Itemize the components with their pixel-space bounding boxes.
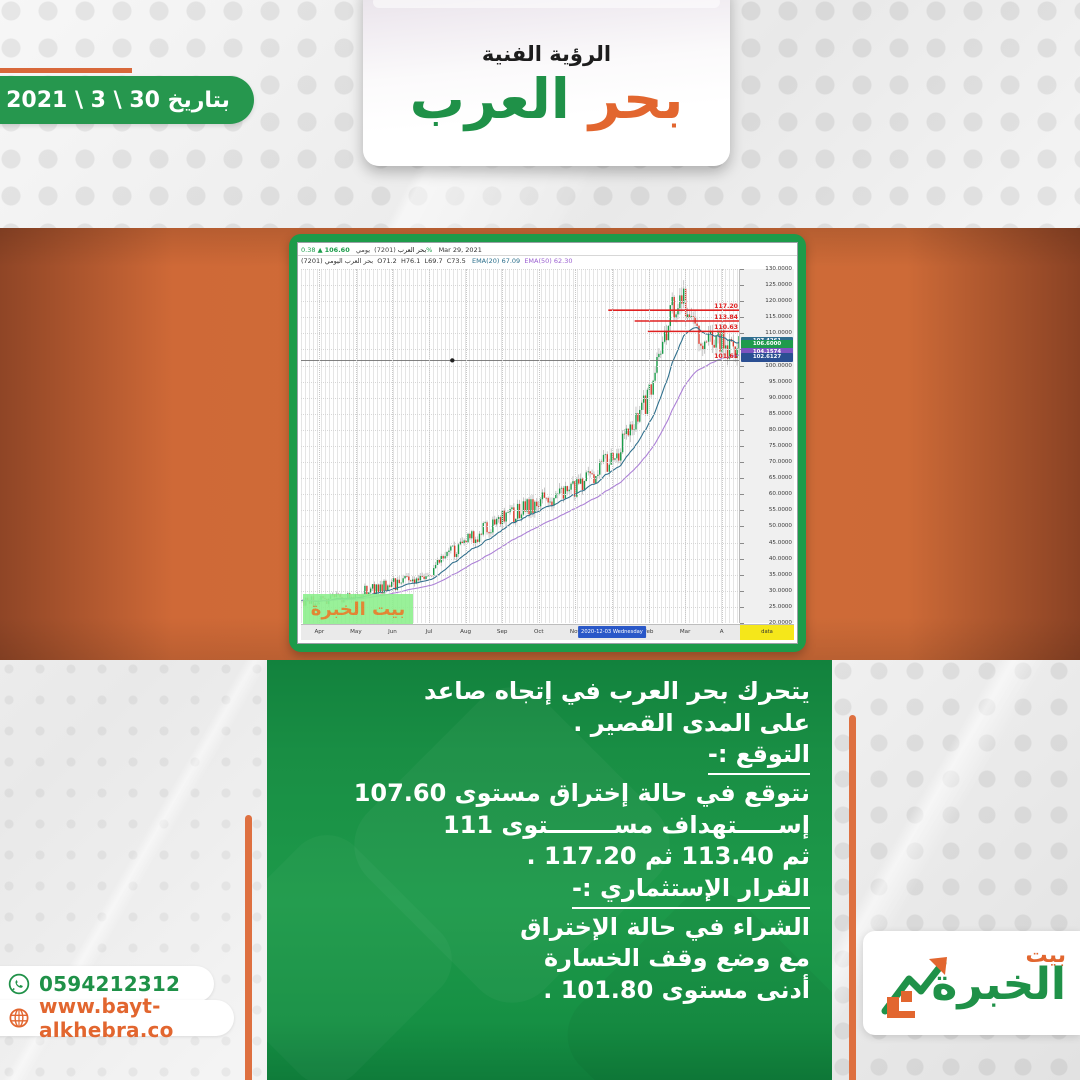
analysis-line-3: نتوقع في حالة إختراق مستوى 107.60 [267,778,810,810]
price-axis-tick: 55.0000 [769,507,792,513]
time-axis-tick: Aug [460,628,471,636]
chart-level-label: 117.20 [714,303,738,310]
contact-phone-number: 0594212312 [39,972,180,996]
price-axis-tick: 100.0000 [765,363,792,369]
chart-horizontal-gridline [301,510,740,511]
chart-ema-slow-value: 62.30 [554,257,573,265]
globe-icon [8,1007,30,1029]
chart-ohlc-symbol: (7201) [301,257,323,265]
price-axis-tick: 120.0000 [765,298,792,304]
chart-ohlc-line: بحر العرب اليومي (7201) O71.2 H76.1 L69.… [301,256,794,267]
page-subtitle: الرؤية الفنية [363,42,730,66]
price-axis-tick: 110.0000 [765,330,792,336]
price-axis-tick-mark [740,382,744,383]
chart-level-label: 101.61 [714,353,738,360]
time-axis-tick: Mar [680,628,691,636]
price-axis-tick: 115.0000 [765,314,792,320]
time-axis-tick: Apr [314,628,324,636]
price-axis-tick-mark [740,430,744,431]
price-axis-tick-mark [740,414,744,415]
chart-horizontal-gridline [301,575,740,576]
accent-rail-left [245,815,252,1080]
chart-horizontal-gridline [301,526,740,527]
chart-vertical-gridline [356,269,357,623]
price-axis-tick: 35.0000 [769,572,792,578]
price-axis-tick: 95.0000 [769,379,792,385]
date-badge: بتاريخ 30 \ 3 \ 2021 [0,76,254,124]
price-axis-tick-mark [740,559,744,560]
chart-horizontal-gridline [301,591,740,592]
title-card-gloss [373,0,720,8]
chart-vertical-gridline [319,269,320,623]
chart-horizontal-gridline [301,333,740,334]
price-axis-tick: 75.0000 [769,443,792,449]
date-accent-rule [0,68,132,73]
analysis-heading-forecast: التوقع :- [708,739,810,775]
price-axis-tick-mark [740,591,744,592]
chart-horizontal-gridline [301,398,740,399]
chart-ema-fast-label: EMA(20) [472,257,500,265]
price-axis-tick: 85.0000 [769,411,792,417]
title-card: الرؤية الفنية بحر العرب [363,0,730,166]
chart-time-axis[interactable]: AprMayJunJulAugSepOctNov2021JanFebMarA20… [301,624,740,640]
analysis-line-2: على المدى القصير . [267,708,810,740]
chart-vertical-gridline [575,269,576,623]
price-axis-tick-mark [740,398,744,399]
page-title-word-orange: بحر [589,67,684,131]
time-axis-tick: Sep [497,628,508,636]
price-axis-tick-mark [740,317,744,318]
price-axis-tick: 50.0000 [769,523,792,529]
price-axis-tick: 60.0000 [769,491,792,497]
chart-watermark: بيت الخبرة [303,594,413,624]
chart-horizontal-gridline [301,349,740,350]
chart-horizontal-gridline [301,269,740,270]
time-axis-tick: Jul [426,628,433,636]
price-axis-tick: 90.0000 [769,395,792,401]
chart-widget[interactable]: بحر العرب (7201) يومي 106.60 ▲ 0.38% Mar… [297,242,798,644]
price-axis-tick-mark [740,366,744,367]
chart-price-axis[interactable]: 130.0000125.0000120.0000115.0000110.0000… [739,269,794,623]
chart-horizontal-gridline [301,285,740,286]
price-axis-tick: 80.0000 [769,427,792,433]
chart-axis-corner-button[interactable]: data [740,624,794,640]
chart-open-value: 71.2 [382,257,396,265]
chart-vertical-gridline [429,269,430,623]
chart-horizontal-gridline [301,462,740,463]
analysis-text-block: يتحرك بحر العرب في إتجاه صاعد على المدى … [267,676,810,1007]
chart-frame: بحر العرب (7201) يومي 106.60 ▲ 0.38% Mar… [289,234,806,652]
chart-watermark-text: بيت الخبرة [311,599,406,620]
chart-horizontal-gridline [301,366,740,367]
analysis-line-4: إســـــتهداف مســــــــتوى 111 [267,810,810,842]
chart-vertical-gridline [466,269,467,623]
whatsapp-icon [8,973,30,995]
chart-ema-slow-label: EMA(50) [524,257,552,265]
chart-vertical-gridline [722,269,723,623]
brand-logo-main-word: الخبرة [931,963,1066,1007]
chart-timeframe: يومي [356,246,370,254]
chart-horizontal-gridline [301,543,740,544]
contact-website-pill[interactable]: www.bayt-alkhebra.co [0,1000,234,1036]
price-axis-tick-mark [740,478,744,479]
chart-level-label: 113.84 [714,314,738,321]
price-axis-tick-mark [740,543,744,544]
chart-horizontal-gridline [301,478,740,479]
analysis-line-1: يتحرك بحر العرب في إتجاه صاعد [267,676,810,708]
chart-low-value: 69.7 [428,257,442,265]
analysis-line-5: ثم 113.40 ثم 117.20 . [267,841,810,873]
price-axis-tick-mark [740,462,744,463]
chart-vertical-gridline [685,269,686,623]
infographic-canvas: بتاريخ 30 \ 3 \ 2021 الرؤية الفنية بحر ا… [0,0,1080,1080]
chart-last-price: 106.60 [325,246,350,254]
price-axis-tick-mark [740,494,744,495]
chart-horizontal-gridline [301,301,740,302]
chart-vertical-gridline [539,269,540,623]
price-axis-chip[interactable]: 102.6127 [741,353,793,362]
chart-plot-area[interactable]: 130.61117.20113.84110.63101.61 [301,269,740,623]
price-axis-tick-mark [740,526,744,527]
price-axis-tick: 30.0000 [769,588,792,594]
time-axis-tick: May [350,628,362,636]
chart-close-value: 73.5 [451,257,465,265]
price-axis-tick-mark [740,285,744,286]
chart-instrument-name: بحر العرب [398,246,426,254]
chart-horizontal-gridline [301,446,740,447]
contact-website-url: www.bayt-alkhebra.co [39,994,218,1042]
price-axis-tick: 70.0000 [769,459,792,465]
chart-vertical-gridline [612,269,613,623]
chart-level-label: 110.63 [714,324,738,331]
chart-vertical-gridline [649,269,650,623]
accent-rail-right [849,715,856,1080]
chart-vertical-gridline [392,269,393,623]
price-axis-tick: 45.0000 [769,540,792,546]
price-axis-tick-mark [740,301,744,302]
brand-logo-text: بيت الخبرة [931,945,1066,1007]
price-axis-tick: 65.0000 [769,475,792,481]
chart-horizontal-gridline [301,382,740,383]
analysis-heading-decision: القرار الإستثماري :- [572,873,810,909]
chart-symbol: (7201) [374,246,396,254]
price-axis-tick: 40.0000 [769,556,792,562]
chart-horizontal-gridline [301,430,740,431]
price-axis-tick: 25.0000 [769,604,792,610]
price-axis-tick-mark [740,446,744,447]
analysis-line-8: أدنى مستوى 101.80 . [267,975,810,1007]
chart-ohlc-instrument: بحر العرب اليومي [325,257,373,265]
chart-horizontal-gridline [301,317,740,318]
price-axis-tick-mark [740,510,744,511]
chart-quote-date: Mar 29, 2021 [439,246,482,254]
brand-logo-card[interactable]: بيت الخبرة [863,931,1080,1035]
chart-horizontal-gridline [301,559,740,560]
page-title: بحر العرب [363,72,730,127]
chart-horizontal-gridline [301,414,740,415]
price-axis-tick-mark [740,607,744,608]
page-title-word-green: العرب [410,67,570,131]
chart-high-value: 76.1 [406,257,420,265]
analysis-panel: يتحرك بحر العرب في إتجاه صاعد على المدى … [267,660,832,1080]
price-axis-tick-mark [740,333,744,334]
price-axis-tick-mark [740,269,744,270]
analysis-line-7: مع وضع وقف الخسارة [267,943,810,975]
chart-vertical-gridline [502,269,503,623]
price-axis-tick-mark [740,575,744,576]
time-axis-tick: Oct [534,628,544,636]
price-axis-tick: 130.0000 [765,266,792,272]
price-axis-tick: 125.0000 [765,282,792,288]
time-axis-selected-label[interactable]: 2020-12-03 Wednesday [578,626,646,638]
chart-horizontal-gridline [301,494,740,495]
chart-ema-fast-value: 67.09 [502,257,521,265]
time-axis-tick: A [720,628,724,636]
analysis-line-6: الشراء في حالة الإختراق [267,912,810,944]
chart-trend-arrow-icon: ▲ [318,246,323,254]
time-axis-tick: Jun [388,628,397,636]
